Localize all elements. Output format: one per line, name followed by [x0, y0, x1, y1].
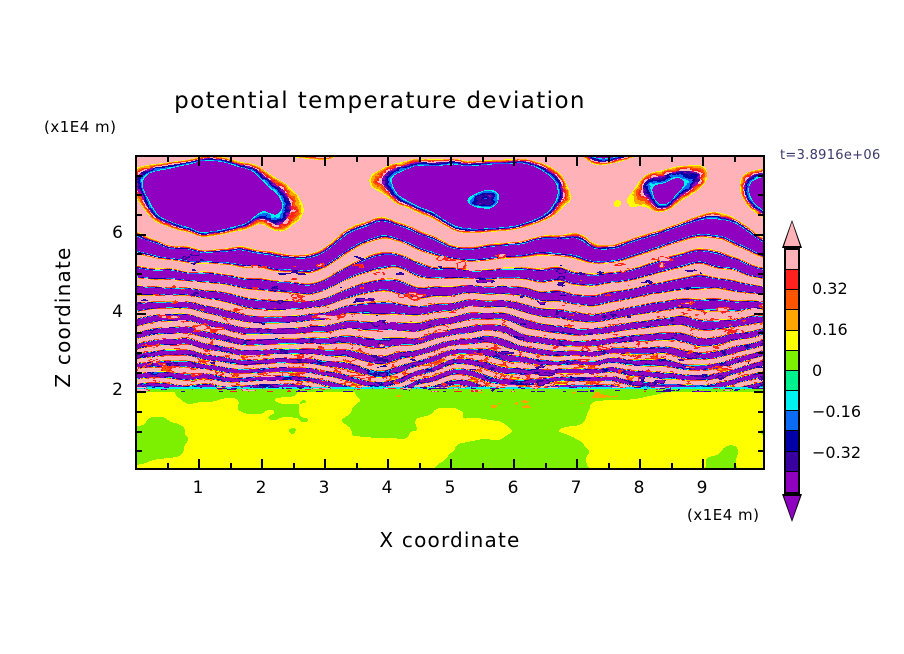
colorbar-label: −0.32 [812, 443, 861, 462]
colorbar-label: 0.16 [812, 320, 848, 339]
tick-mark [734, 157, 736, 162]
tick-mark [419, 157, 421, 162]
tick-mark [137, 253, 142, 255]
colorbar-band-8 [786, 411, 798, 431]
tick-mark [576, 459, 578, 468]
tick-mark [754, 313, 763, 315]
tick-mark [137, 293, 142, 295]
tick-mark [608, 157, 610, 162]
tick-mark [137, 175, 142, 177]
tick-mark [608, 463, 610, 468]
tick-mark [137, 332, 142, 334]
tick-mark [261, 157, 263, 166]
tick-mark [324, 459, 326, 468]
tick-mark [137, 372, 142, 374]
tick-mark [137, 431, 142, 433]
x-tick-label: 4 [367, 478, 407, 498]
tick-mark [324, 157, 326, 166]
tick-mark [758, 372, 763, 374]
tick-mark [758, 253, 763, 255]
tick-mark [137, 411, 142, 413]
tick-mark [758, 352, 763, 354]
colorbar-label: 0.32 [812, 279, 848, 298]
temperature-deviation-field [135, 155, 765, 470]
colorbar-band-7 [786, 391, 798, 411]
tick-mark [576, 157, 578, 166]
tick-mark [356, 157, 358, 162]
tick-mark [137, 214, 142, 216]
tick-mark [671, 463, 673, 468]
tick-mark [450, 459, 452, 468]
colorbar-band-6 [786, 371, 798, 391]
colorbar-band-9 [786, 431, 798, 451]
colorbar-label: −0.16 [812, 402, 861, 421]
tick-mark [702, 459, 704, 468]
x-tick-label: 9 [682, 478, 722, 498]
tick-mark [167, 463, 169, 468]
colorbar-band-11 [786, 472, 798, 492]
tick-mark [758, 194, 763, 196]
tick-mark [758, 293, 763, 295]
colorbar-band-2 [786, 290, 798, 310]
tick-mark [482, 463, 484, 468]
tick-mark [387, 459, 389, 468]
x-tick-label: 5 [430, 478, 470, 498]
page-title: potential temperature deviation [0, 88, 760, 114]
tick-mark [513, 157, 515, 166]
tick-mark [754, 234, 763, 236]
tick-mark [758, 175, 763, 177]
tick-mark [513, 459, 515, 468]
colorbar-bands [784, 248, 800, 494]
tick-mark [137, 450, 142, 452]
tick-mark [137, 313, 146, 315]
tick-mark [758, 431, 763, 433]
x-tick-label: 1 [178, 478, 218, 498]
tick-mark [671, 157, 673, 162]
tick-mark [639, 459, 641, 468]
x-tick-label: 8 [619, 478, 659, 498]
tick-mark [137, 391, 146, 393]
colorbar [779, 222, 805, 520]
colorbar-band-0 [786, 250, 798, 270]
colorbar-band-10 [786, 452, 798, 472]
tick-mark [198, 459, 200, 468]
y-tick-label: 6 [93, 223, 123, 243]
tick-mark [419, 463, 421, 468]
tick-mark [230, 157, 232, 162]
x-tick-label: 7 [556, 478, 596, 498]
tick-mark [137, 234, 146, 236]
y-axis-title: Z coordinate [51, 202, 75, 432]
colorbar-band-3 [786, 310, 798, 330]
colorbar-top-arrow [784, 222, 800, 246]
colorbar-band-1 [786, 270, 798, 290]
x-axis-title: X coordinate [135, 528, 765, 552]
tick-mark [137, 273, 142, 275]
tick-mark [758, 273, 763, 275]
tick-mark [639, 157, 641, 166]
tick-mark [754, 391, 763, 393]
tick-mark [758, 411, 763, 413]
x-axis-unit-label: (x1E4 m) [687, 506, 760, 524]
tick-mark [293, 157, 295, 162]
colorbar-label: 0 [812, 361, 822, 380]
tick-mark [230, 463, 232, 468]
tick-mark [293, 463, 295, 468]
time-annotation: t=3.8916e+06 [780, 148, 881, 163]
tick-mark [137, 352, 142, 354]
colorbar-band-4 [786, 331, 798, 351]
x-tick-label: 3 [304, 478, 344, 498]
tick-mark [198, 157, 200, 166]
tick-mark [261, 459, 263, 468]
tick-mark [450, 157, 452, 166]
x-tick-label: 2 [241, 478, 281, 498]
tick-mark [758, 332, 763, 334]
colorbar-bottom-arrow [784, 496, 800, 520]
tick-mark [387, 157, 389, 166]
tick-mark [356, 463, 358, 468]
tick-mark [545, 157, 547, 162]
tick-mark [137, 194, 142, 196]
y-tick-label: 2 [93, 380, 123, 400]
tick-mark [167, 157, 169, 162]
colorbar-band-5 [786, 351, 798, 371]
tick-mark [482, 157, 484, 162]
y-axis-unit-label: (x1E4 m) [44, 118, 117, 136]
x-tick-label: 6 [493, 478, 533, 498]
tick-mark [734, 463, 736, 468]
tick-mark [758, 214, 763, 216]
tick-mark [545, 463, 547, 468]
tick-mark [702, 157, 704, 166]
tick-mark [758, 450, 763, 452]
y-tick-label: 4 [93, 302, 123, 322]
